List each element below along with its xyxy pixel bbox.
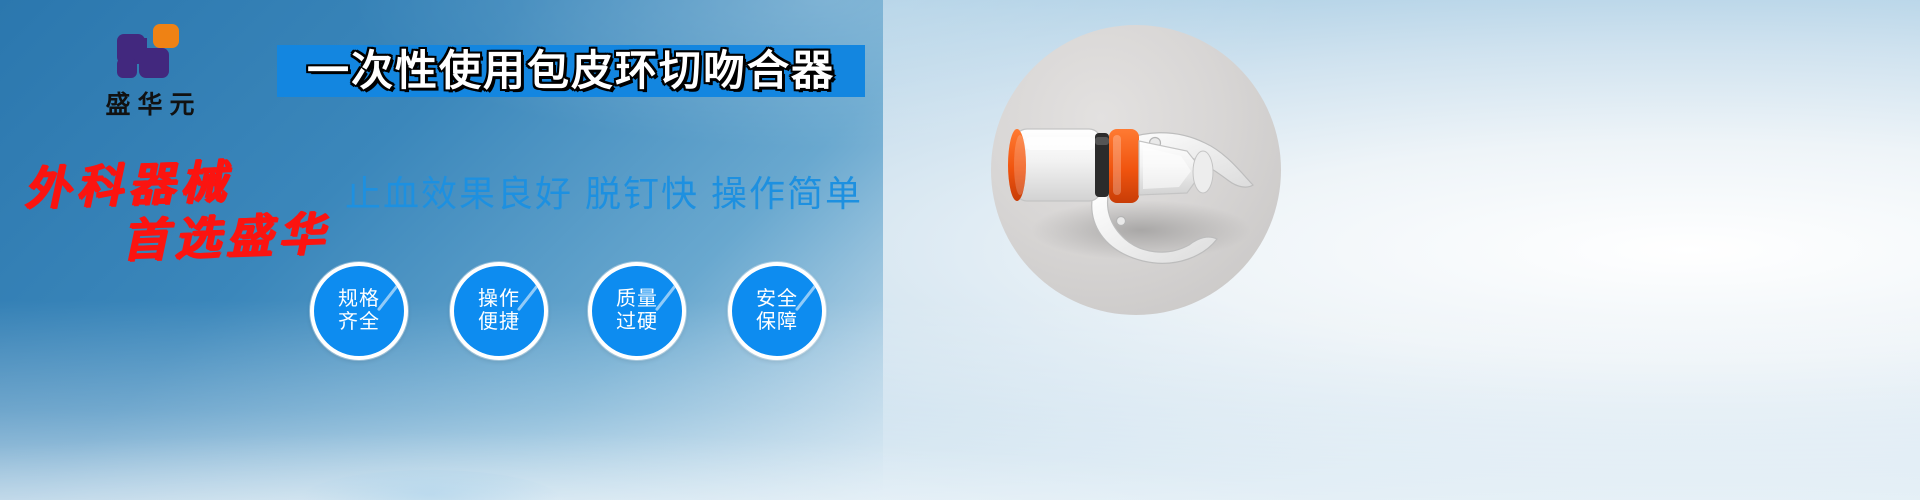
feature-badge-line2: 保障: [756, 311, 798, 334]
feature-badge-safety[interactable]: 安全 保障: [728, 262, 826, 360]
promo-banner: 盛华元 外科器械 首选盛华 一次性使用包皮环切吻合器 止血效果良好 脱钉快 操作…: [0, 0, 1920, 500]
company-name: 盛华元: [60, 92, 240, 120]
feature-badge-line2: 齐全: [338, 311, 380, 334]
product-photo: [991, 25, 1281, 315]
feature-badge-quality[interactable]: 质量 过硬: [588, 262, 686, 360]
product-illustration: [991, 25, 1281, 315]
feature-badge-line1: 操作: [478, 288, 520, 311]
feature-badge-specification[interactable]: 规格 齐全: [310, 262, 408, 360]
product-title-bar: 一次性使用包皮环切吻合器: [277, 45, 865, 97]
product-title: 一次性使用包皮环切吻合器: [307, 50, 835, 92]
company-logo-icon: [117, 24, 183, 86]
feature-badge-line1: 安全: [756, 288, 798, 311]
calligraphy-line-2: 首选盛华: [121, 197, 331, 270]
feature-badge-list: 规格 齐全 操作 便捷 质量 过硬 安全 保障: [310, 262, 850, 362]
feature-badge-line1: 质量: [616, 288, 658, 311]
feature-badge-line1: 规格: [338, 288, 380, 311]
product-subtitle: 止血效果良好 脱钉快 操作简单: [345, 165, 863, 217]
feature-badge-line2: 便捷: [478, 311, 520, 334]
feature-badge-operation[interactable]: 操作 便捷: [450, 262, 548, 360]
calligraphy-slogan: 外科器械 首选盛华: [18, 145, 348, 265]
background-wave: [0, 390, 1920, 500]
feature-badge-line2: 过硬: [616, 311, 658, 334]
brand-logo-block: 盛华元: [60, 24, 240, 120]
